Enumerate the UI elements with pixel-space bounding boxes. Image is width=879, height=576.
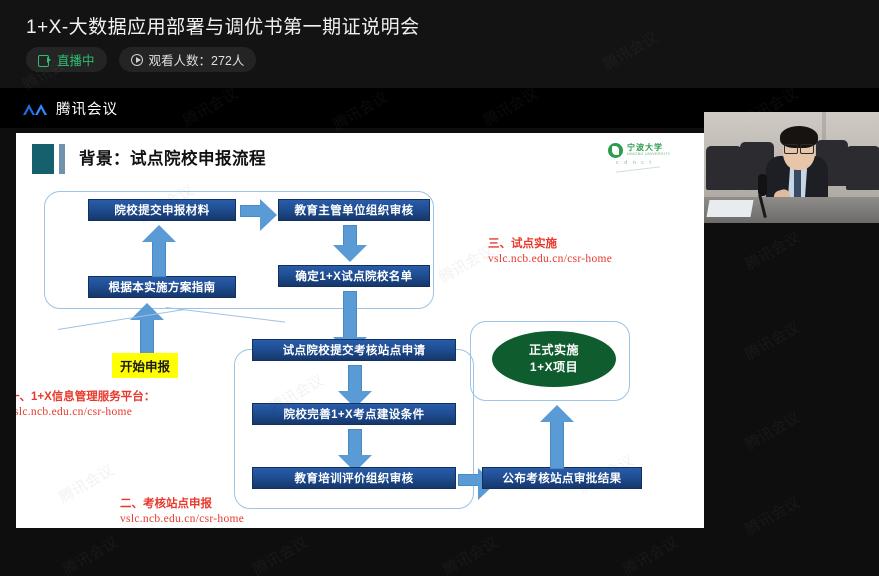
live-badge: 直播中 <box>26 47 107 72</box>
note-3-title: 三、试点实施 <box>488 237 612 252</box>
shared-slide: 背景：试点院校申报流程 宁波大学 NINGBO UNIVERSITY c d n… <box>16 133 704 528</box>
slide-title-group: 背景：试点院校申报流程 <box>32 144 266 174</box>
stream-banner: 1+X-大数据应用部署与调优书第一期证说明会 直播中 观看人数：272人 <box>0 0 879 88</box>
watermark: 腾讯会议 <box>59 531 121 576</box>
title-accent-thin <box>59 144 65 174</box>
meeting-app-name: 腾讯会议 <box>56 98 118 119</box>
video-chair <box>706 146 742 190</box>
play-circle-icon <box>131 54 143 66</box>
flow-box-build-conditions: 院校完善1+X考点建设条件 <box>252 403 456 425</box>
video-chair <box>846 146 879 190</box>
watermark: 腾讯会议 <box>741 316 803 364</box>
video-camera-icon <box>38 55 51 65</box>
final-stage-ellipse: 正式实施 1+X项目 <box>492 331 616 387</box>
watermark: 腾讯会议 <box>741 406 803 454</box>
watermark: 腾讯会议 <box>249 531 311 576</box>
ellipse-line-1: 正式实施 <box>529 342 579 359</box>
note-info-platform: 一、1+X信息管理服务平台： vslc.ncb.edu.cn/csr-home <box>16 390 155 420</box>
video-papers <box>707 200 754 217</box>
flow-box-guideline: 根据本实施方案指南 <box>88 276 236 298</box>
note-1-url: vslc.ncb.edu.cn/csr-home <box>16 405 155 420</box>
title-accent-thick <box>32 144 54 174</box>
connector-line-1 <box>58 309 185 330</box>
microphone-icon <box>758 174 767 196</box>
ellipse-line-2: 1+X项目 <box>530 359 578 376</box>
watermark: 腾讯会议 <box>741 226 803 274</box>
watermark: 腾讯会议 <box>619 531 681 576</box>
note-1-title: 一、1+X信息管理服务平台： <box>16 390 155 405</box>
note-2-title: 二、考核站点申报 <box>120 497 244 512</box>
flow-box-site-application: 试点院校提交考核站点申请 <box>252 339 456 361</box>
glasses-icon <box>784 144 814 152</box>
watermark: 腾讯会议 <box>741 491 803 539</box>
watermark: 腾讯会议 <box>439 531 501 576</box>
live-badge-label: 直播中 <box>57 50 95 69</box>
speaker-video-tile[interactable] <box>704 112 879 223</box>
meeting-brand: 腾讯会议 <box>22 98 118 119</box>
university-sub-text: c d n c t <box>616 160 653 166</box>
university-emblem-icon <box>608 143 623 158</box>
flow-box-evaluation-review: 教育培训评价组织审核 <box>252 467 456 489</box>
note-2-url: vslc.ncb.edu.cn/csr-home <box>120 512 244 527</box>
note-site-application: 二、考核站点申报 vslc.ncb.edu.cn/csr-home <box>120 497 244 527</box>
flowchart: 院校提交申报材料 教育主管单位组织审核 确定1+X试点院校名单 根据本实施方 <box>16 179 704 528</box>
start-application-label: 开始申报 <box>112 353 178 378</box>
connector-line-2 <box>166 307 285 323</box>
video-person-tie <box>794 168 801 198</box>
flow-box-submit-materials: 院校提交申报材料 <box>88 199 236 221</box>
note-pilot-implementation: 三、试点实施 vslc.ncb.edu.cn/csr-home <box>488 237 612 267</box>
note-3-url: vslc.ncb.edu.cn/csr-home <box>488 252 612 267</box>
university-name-en: NINGBO UNIVERSITY <box>627 152 671 156</box>
stream-title: 1+X-大数据应用部署与调优书第一期证说明会 <box>26 12 420 39</box>
flow-box-authority-review: 教育主管单位组织审核 <box>278 199 430 221</box>
university-underline <box>616 166 660 172</box>
viewers-badge-label: 观看人数：272人 <box>149 50 245 69</box>
tencent-meeting-logo-icon <box>22 101 48 117</box>
app-root: 1+X-大数据应用部署与调优书第一期证说明会 直播中 观看人数：272人 腾讯会… <box>0 0 879 576</box>
flow-box-pilot-list: 确定1+X试点院校名单 <box>278 265 430 287</box>
slide-title: 背景：试点院校申报流程 <box>79 144 266 174</box>
university-logo: 宁波大学 NINGBO UNIVERSITY c d n c t <box>608 141 672 175</box>
flow-box-publish-result: 公布考核站点审批结果 <box>482 467 642 489</box>
badge-row: 直播中 观看人数：272人 <box>26 47 256 72</box>
viewers-badge: 观看人数：272人 <box>119 47 257 72</box>
